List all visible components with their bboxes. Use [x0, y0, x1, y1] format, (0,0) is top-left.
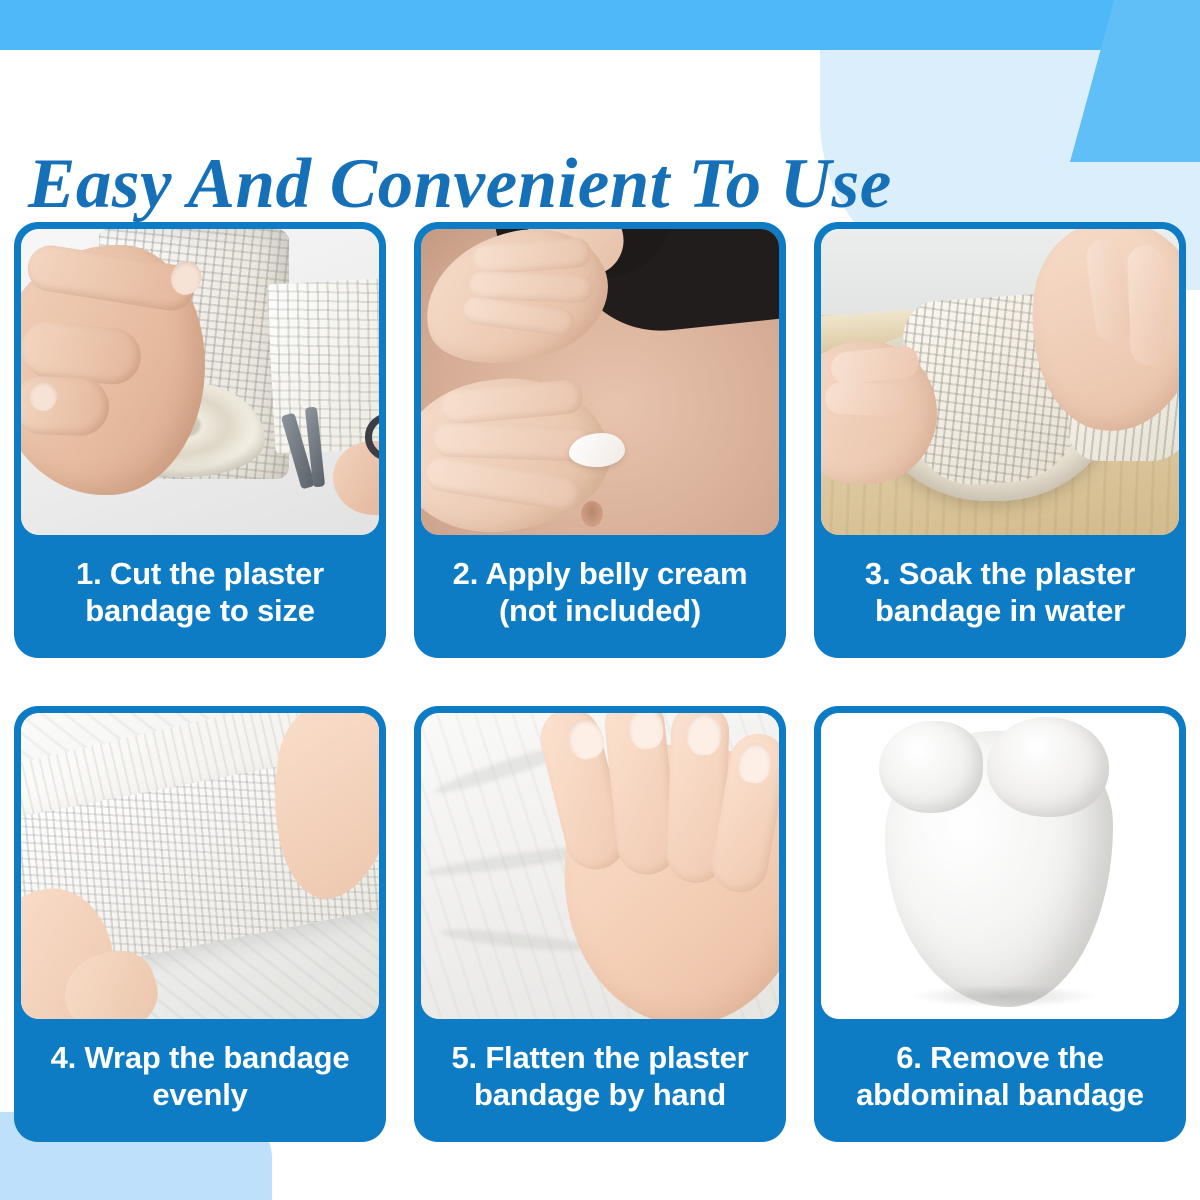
step-image-1 — [21, 229, 379, 535]
scene-finished-belly-cast — [821, 713, 1179, 1019]
step-image-6 — [821, 713, 1179, 1019]
top-banner-bar — [0, 0, 1200, 50]
scene-flatten-bandage — [421, 713, 779, 1019]
steps-grid: 1. Cut the plaster bandage to size 2. Ap… — [14, 222, 1186, 1142]
step-card-6: 6. Remove the abdominal bandage — [814, 706, 1186, 1142]
step-card-2: 2. Apply belly cream (not included) — [414, 222, 786, 658]
step-card-4: 4. Wrap the bandage evenly — [14, 706, 386, 1142]
scene-apply-cream — [421, 229, 779, 535]
scene-wrap-bandage — [21, 713, 379, 1019]
step-caption-6: 6. Remove the abdominal bandage — [814, 1019, 1186, 1142]
scene-soak-bandage — [821, 229, 1179, 535]
page-title: Easy And Convenient To Use — [28, 149, 892, 220]
step-card-3: 3. Soak the plaster bandage in water — [814, 222, 1186, 658]
step-caption-5: 5. Flatten the plaster bandage by hand — [414, 1019, 786, 1142]
step-card-5: 5. Flatten the plaster bandage by hand — [414, 706, 786, 1142]
scene-cut-bandage — [21, 229, 379, 535]
step-caption-3: 3. Soak the plaster bandage in water — [814, 535, 1186, 658]
step-caption-1: 1. Cut the plaster bandage to size — [14, 535, 386, 658]
step-image-5 — [421, 713, 779, 1019]
step-image-2 — [421, 229, 779, 535]
step-card-1: 1. Cut the plaster bandage to size — [14, 222, 386, 658]
step-image-4 — [21, 713, 379, 1019]
step-image-3 — [821, 229, 1179, 535]
step-caption-4: 4. Wrap the bandage evenly — [14, 1019, 386, 1142]
step-caption-2: 2. Apply belly cream (not included) — [414, 535, 786, 658]
